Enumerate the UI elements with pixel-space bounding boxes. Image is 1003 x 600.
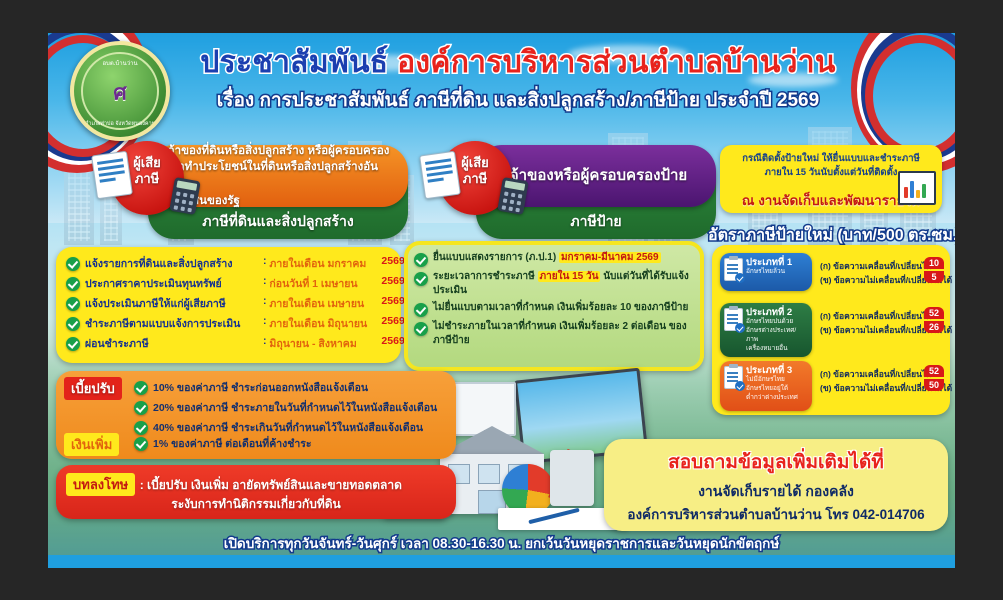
- penalty-text: 10% ของค่าภาษี ชำระก่อนออกหนังสือแจ้งเตื…: [153, 379, 368, 396]
- rule-highlight: ภายใน 15 วัน: [538, 271, 601, 282]
- surcharge-tag: เงินเพิ่ม: [64, 433, 119, 456]
- taxpayer-circle-middle: ผู้เสีย ภาษี: [438, 141, 512, 215]
- legal-penalty-panel: บทลงโทษ : เบี้ยปรับ เงินเพิ่ม อายัดทรัพย…: [56, 465, 456, 519]
- fine-row: 40% ของค่าภาษี ชำระเกินวันที่กำหนดไว้ในห…: [134, 419, 450, 436]
- schedule-label: แจ้งประเมินภาษีให้แก่ผู้เสียภาษี: [85, 295, 263, 312]
- notice-line-2: ภายใน 15 วันนับตั้งแต่วันที่ติดตั้ง: [765, 167, 898, 178]
- rule-text: ยื่นแบบแสดงรายการ (ภ.ป.1) มกราคม-มีนาคม …: [433, 251, 661, 265]
- page-subtitle: เรื่อง การประชาสัมพันธ์ ภาษีที่ดิน และสิ…: [168, 85, 868, 115]
- check-icon: [66, 257, 80, 271]
- rate-value: 10: [924, 257, 944, 269]
- page-title: ประชาสัมพันธ์ องค์การบริหารส่วนตำบลบ้านว…: [168, 47, 868, 79]
- check-icon: [134, 437, 148, 451]
- rule-row: ไม่ยื่นแบบตามเวลาที่กำหนด เงินเพิ่มร้อยล…: [414, 301, 700, 317]
- penalty-text: 20% ของค่าภาษี ชำระภายในวันที่กำหนดไว้ใน…: [153, 399, 437, 416]
- signboard-tax-name: ภาษีป้าย: [570, 213, 621, 229]
- penalty-text: 1% ของค่าภาษี ต่อเดือนที่ค้างชำระ: [153, 435, 312, 452]
- surcharge-tag-wrap: เงินเพิ่ม: [64, 433, 119, 456]
- rate-type-box: ประเภทที่ 3ไม่มีอักษรไทย อักษรไทยอยู่ใต้…: [720, 361, 812, 411]
- schedule-row: แจ้งประเมินภาษีให้แก่ผู้เสียภาษี: ภายในเ…: [66, 295, 394, 312]
- rate-value: 50: [924, 379, 944, 391]
- schedule-date: ภายในเดือน เมษายน: [269, 295, 381, 312]
- schedule-year: 2569: [381, 295, 404, 307]
- schedule-label: ผ่อนชำระภาษี: [85, 335, 263, 352]
- title-part-2: องค์การบริหารส่วนตำบลบ้านว่าน: [397, 46, 836, 79]
- rate-line: (ก) ข้อความเคลื่อนที่/เปลี่ยนได้: [820, 259, 932, 273]
- rate-type-title: ประเภทที่ 3: [746, 365, 806, 376]
- schedule-label: แจ้งรายการที่ดินและสิ่งปลูกสร้าง: [85, 255, 263, 272]
- logo-glyph: ศ: [113, 76, 126, 109]
- schedule-date: ก่อนวันที่ 1 เมษายน: [269, 275, 381, 292]
- rate-type-box: ประเภทที่ 1อักษรไทยล้วน: [720, 253, 812, 291]
- calculator-illustration: [550, 450, 594, 506]
- rate-value: 52: [924, 307, 944, 319]
- poster-header: อบต.บ้านว่าน ศ อำเภอท่าบ่อ จังหวัดหนองคา…: [48, 33, 955, 137]
- surcharge-rows: 1% ของค่าภาษี ต่อเดือนที่ค้างชำระ: [134, 435, 450, 455]
- schedule-date: ภายในเดือน มิถุนายน: [269, 315, 381, 332]
- rate-type-box: ประเภทที่ 2อักษรไทยปนด้วย อักษรต่างประเท…: [720, 303, 812, 357]
- legal-tag: บทลงโทษ: [66, 473, 135, 496]
- clipboard-icon: [724, 308, 743, 331]
- schedule-year: 2569: [381, 255, 404, 267]
- contact-heading: สอบถามข้อมูลเพิ่มเติมได้ที่: [604, 447, 948, 477]
- bottom-bar: [48, 555, 955, 568]
- land-tax-name-wrap: ภาษีที่ดินและสิ่งปลูกสร้าง: [148, 211, 408, 233]
- circle-line2-left: ภาษี: [135, 171, 159, 186]
- logo-top-text: อบต.บ้านว่าน: [102, 58, 137, 68]
- service-hours-footer: เปิดบริการทุกวันจันทร์-วันศุกร์ เวลา 08.…: [48, 532, 955, 554]
- schedule-row: ผ่อนชำระภาษี: มิถุนายน - สิงหาคม2569: [66, 335, 394, 352]
- clipboard-icon: [724, 366, 743, 389]
- check-icon: [414, 272, 428, 286]
- rate-type-title: ประเภทที่ 2: [746, 307, 806, 318]
- legal-line-2: ระงับการทำนิติกรรมเกี่ยวกับที่ดิน: [171, 497, 340, 511]
- rate-value: 5: [924, 271, 944, 283]
- contact-box: สอบถามข้อมูลเพิ่มเติมได้ที่ งานจัดเก็บรา…: [604, 439, 948, 531]
- legal-line-1: : เบี้ยปรับ เงินเพิ่ม อายัดทรัพย์สินและข…: [140, 478, 402, 492]
- rate-line: (ก) ข้อความเคลื่อนที่/เปลี่ยนได้: [820, 309, 932, 323]
- contact-line-2: องค์การบริหารส่วนตำบลบ้านว่าน โทร 042-01…: [604, 503, 948, 525]
- penalty-panel: เบี้ยปรับ 10% ของค่าภาษี ชำระก่อนออกหนัง…: [56, 371, 456, 459]
- check-icon: [134, 381, 148, 395]
- circle-line1-middle: ผู้เสีย: [461, 155, 489, 170]
- taxpayer-circle-left: ผู้เสีย ภาษี: [110, 141, 184, 215]
- check-icon: [414, 253, 428, 267]
- check-icon: [66, 277, 80, 291]
- notice-line-1: กรณีติดตั้งป้ายใหม่ ให้ยื่นแบบและชำระภาษ…: [742, 153, 920, 164]
- penalty-text: 40% ของค่าภาษี ชำระเกินวันที่กำหนดไว้ในห…: [153, 419, 423, 436]
- logo-bottom-text: อำเภอท่าบ่อ จังหวัดหนองคาย: [85, 120, 155, 128]
- check-icon: [66, 317, 80, 331]
- rate-type-subtitle: อักษรไทยล้วน: [746, 268, 806, 277]
- rate-value: 26: [924, 321, 944, 333]
- schedule-label: ชำระภาษีตามแบบแจ้งการประเมิน: [85, 315, 263, 332]
- document-icon: [91, 151, 133, 200]
- check-icon: [134, 421, 148, 435]
- fine-row: 20% ของค่าภาษี ชำระภายในวันที่กำหนดไว้ใน…: [134, 399, 450, 416]
- rate-line: (ก) ข้อความเคลื่อนที่/เปลี่ยนได้: [820, 367, 932, 381]
- poster-canvas: อบต.บ้านว่าน ศ อำเภอท่าบ่อ จังหวัดหนองคา…: [48, 33, 955, 568]
- schedule-row: ชำระภาษีตามแบบแจ้งการประเมิน: ภายในเดือน…: [66, 315, 394, 332]
- land-tax-name: ภาษีที่ดินและสิ่งปลูกสร้าง: [202, 213, 353, 229]
- chart-monitor-icon: [898, 171, 936, 205]
- land-tax-schedule-panel: แจ้งรายการที่ดินและสิ่งปลูกสร้าง: ภายในเ…: [56, 247, 401, 363]
- schedule-year: 2569: [381, 315, 404, 327]
- document-icon: [419, 151, 461, 200]
- rule-row: ระยะเวลาการชำระภาษี ภายใน 15 วัน นับแต่ว…: [414, 270, 700, 298]
- signboard-rules-panel: ยื่นแบบแสดงรายการ (ภ.ป.1) มกราคม-มีนาคม …: [404, 241, 704, 371]
- title-part-1: ประชาสัมพันธ์: [200, 46, 397, 79]
- rule-text: ระยะเวลาการชำระภาษี ภายใน 15 วัน นับแต่ว…: [433, 270, 700, 298]
- rule-row: ยื่นแบบแสดงรายการ (ภ.ป.1) มกราคม-มีนาคม …: [414, 251, 700, 267]
- schedule-year: 2569: [381, 335, 404, 347]
- fine-row: 10% ของค่าภาษี ชำระก่อนออกหนังสือแจ้งเตื…: [134, 379, 450, 396]
- rate-type-title: ประเภทที่ 1: [746, 257, 806, 268]
- fine-rows: 10% ของค่าภาษี ชำระก่อนออกหนังสือแจ้งเตื…: [134, 379, 450, 439]
- rule-highlight: มกราคม-มีนาคม 2569: [559, 252, 661, 263]
- signboard-rate-card: ประเภทที่ 1อักษรไทยล้วน(ก) ข้อความเคลื่อ…: [712, 245, 950, 415]
- check-icon: [414, 322, 428, 336]
- fine-tag-wrap: เบี้ยปรับ: [64, 377, 122, 400]
- organization-logo: อบต.บ้านว่าน ศ อำเภอท่าบ่อ จังหวัดหนองคา…: [70, 41, 170, 141]
- new-signboard-notice: กรณีติดตั้งป้ายใหม่ ให้ยื่นแบบและชำระภาษ…: [720, 145, 942, 213]
- schedule-row: ประกาศราคาประเมินทุนทรัพย์: ก่อนวันที่ 1…: [66, 275, 394, 292]
- rule-row: ไม่ชำระภายในเวลาที่กำหนด เงินเพิ่มร้อยละ…: [414, 320, 700, 348]
- schedule-rows: แจ้งรายการที่ดินและสิ่งปลูกสร้าง: ภายในเ…: [66, 255, 394, 355]
- check-icon: [66, 297, 80, 311]
- contact-line-1: งานจัดเก็บรายได้ กองคลัง: [604, 481, 948, 503]
- clipboard-icon: [724, 258, 743, 281]
- schedule-label: ประกาศราคาประเมินทุนทรัพย์: [85, 275, 263, 292]
- circle-line1-left: ผู้เสีย: [133, 155, 161, 170]
- rate-type-subtitle: อักษรไทยปนด้วย อักษรต่างประเทศ/ภาพ เครื่…: [746, 318, 806, 353]
- schedule-row: แจ้งรายการที่ดินและสิ่งปลูกสร้าง: ภายในเ…: [66, 255, 394, 272]
- circle-line2-middle: ภาษี: [463, 171, 487, 186]
- schedule-date: มิถุนายน - สิงหาคม: [269, 335, 381, 352]
- rule-text: ไม่ยื่นแบบตามเวลาที่กำหนด เงินเพิ่มร้อยล…: [433, 301, 688, 315]
- schedule-date: ภายในเดือน มกราคม: [269, 255, 381, 272]
- check-icon: [134, 401, 148, 415]
- schedule-year: 2569: [381, 275, 404, 287]
- rate-value: 52: [924, 365, 944, 377]
- check-icon: [414, 303, 428, 317]
- rate-type-subtitle: ไม่มีอักษรไทย อักษรไทยอยู่ใต้ ต่ำกว่าต่า…: [746, 376, 806, 402]
- signboard-tax-name-wrap: ภาษีป้าย: [476, 211, 716, 233]
- fine-tag: เบี้ยปรับ: [64, 377, 122, 400]
- surcharge-row: 1% ของค่าภาษี ต่อเดือนที่ค้างชำระ: [134, 435, 450, 452]
- rule-rows: ยื่นแบบแสดงรายการ (ภ.ป.1) มกราคม-มีนาคม …: [414, 251, 700, 351]
- check-icon: [66, 337, 80, 351]
- rule-text: ไม่ชำระภายในเวลาที่กำหนด เงินเพิ่มร้อยละ…: [433, 320, 700, 348]
